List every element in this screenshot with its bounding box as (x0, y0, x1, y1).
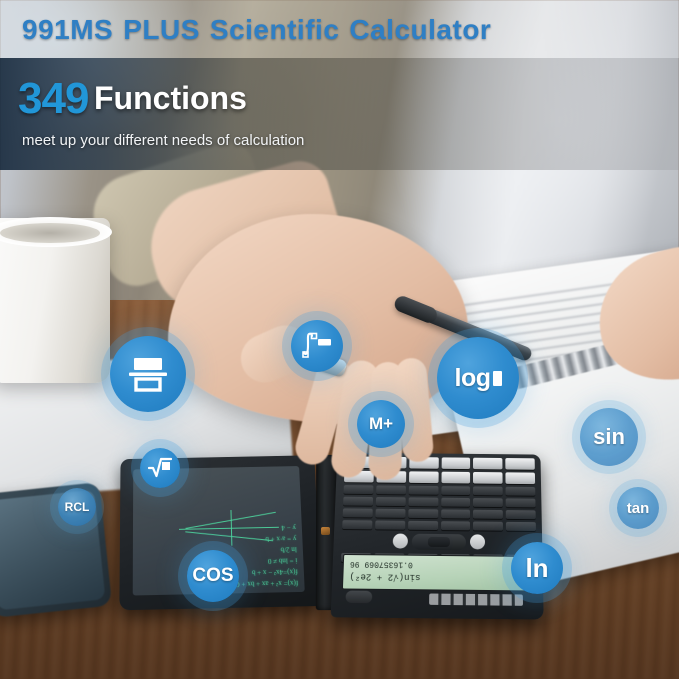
title-word-calculator: Calculator (349, 14, 491, 45)
fraction-template-icon-badge (110, 336, 186, 412)
title-word-plus: PLUS (123, 14, 200, 45)
key-row (342, 520, 536, 531)
key-row (344, 485, 536, 496)
page-title: 991MSPLUSScientificCalculator (22, 14, 501, 46)
log-base-icon-badge: log (437, 337, 519, 419)
directional-pad (412, 534, 466, 551)
cos-label: COS (192, 565, 233, 587)
mplus-label: M+ (369, 414, 393, 434)
sin-badge: sin (580, 408, 638, 466)
tan-badge: tan (617, 487, 659, 529)
title-word-scientific: Scientific (210, 14, 339, 45)
product-marketing-image: f(x)= x² + ax + bx + C f(x)=4x² − x + b … (0, 0, 679, 679)
mug-interior (0, 223, 100, 243)
rcl-label: RCL (65, 500, 90, 514)
calculator-body: 0.16357069 96 sin(√2 + 2e²) (331, 453, 544, 620)
fraction-template-icon (127, 353, 169, 395)
square-root-icon (148, 457, 172, 479)
log-label: log (455, 364, 491, 393)
navigation-row (341, 533, 536, 551)
nav-left-key (393, 534, 408, 549)
calculator-lcd-display: 0.16357069 96 sin(√2 + 2e²) (342, 554, 535, 592)
nav-right-key (470, 534, 485, 549)
definite-integral-icon (301, 332, 333, 360)
tan-label: tan (627, 500, 650, 517)
lcd-expression: sin(√2 + 2e²) (343, 571, 534, 583)
log-base-box (493, 371, 502, 386)
tagline: meet up your different needs of calculat… (22, 132, 304, 149)
definite-integral-icon-badge (291, 320, 343, 372)
cos-badge: COS (187, 550, 239, 602)
lcd-result: 0.16357069 96 (344, 559, 534, 570)
solar-panel-strip (429, 593, 523, 605)
natural-log-badge: ln (511, 542, 563, 594)
title-word-model: 991MS (22, 14, 113, 45)
calculator-device: f(x)= x² + ax + bx + C f(x)=4x² − x + b … (120, 455, 540, 615)
function-count: 349 (18, 74, 88, 124)
ln-label: ln (525, 553, 548, 584)
power-button (345, 591, 372, 604)
coffee-mug (0, 218, 110, 383)
sin-label: sin (593, 424, 625, 450)
square-root-icon-badge (140, 448, 180, 488)
hinge-connector (321, 527, 330, 535)
key-row (343, 497, 535, 508)
memory-plus-badge: M+ (357, 400, 405, 448)
key-row (343, 508, 536, 519)
recall-badge: RCL (58, 488, 96, 526)
handdrawn-graph (179, 509, 280, 547)
functions-label: Functions (94, 80, 247, 117)
